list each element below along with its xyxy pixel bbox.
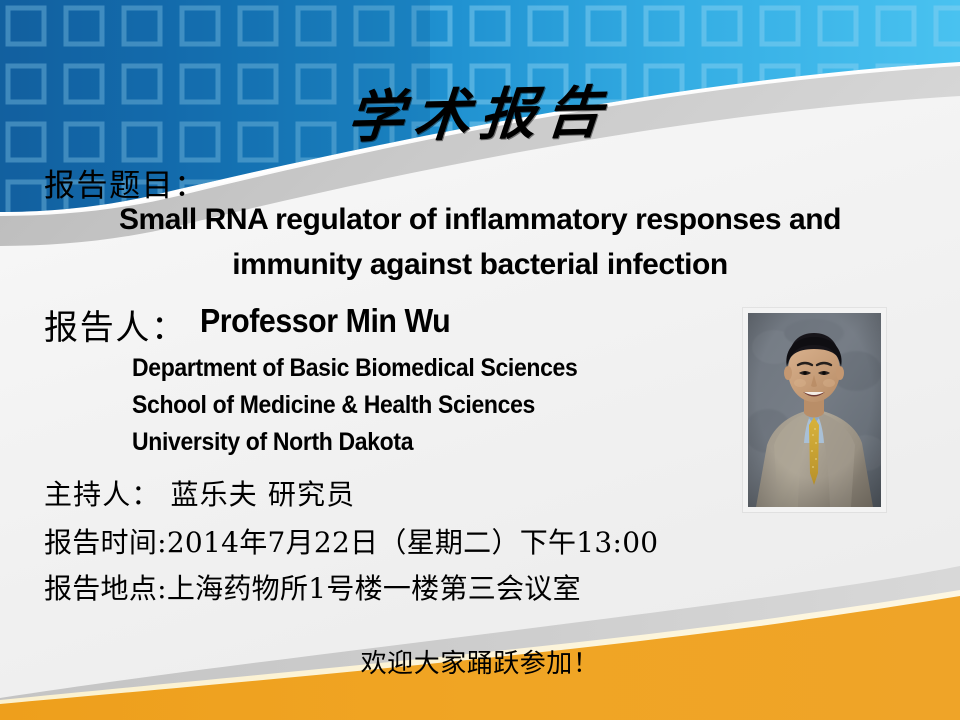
- topic-title-line-1-text: Small RNA regulator of inflammatory resp…: [119, 203, 841, 236]
- time-line: 报告时间:2014年7月22日（星期二）下午13:00: [44, 521, 658, 561]
- welcome-message: 欢迎大家踊跃参加！: [0, 643, 960, 680]
- speaker-affiliation-line-2: School of Medicine & Health Sciences: [132, 391, 535, 420]
- page-title: 学术报告: [0, 76, 960, 155]
- speaker-affiliation-line-1: Department of Basic Biomedical Sciences: [132, 354, 577, 383]
- presentation-slide: 学术报告 报告题目： Small RNA regulator of inflam…: [0, 0, 960, 720]
- topic-title-line-2: immunity against bacterial infection: [0, 248, 960, 282]
- topic-title-line-2-text: immunity against bacterial infection: [232, 248, 728, 281]
- speaker-label: 报告人：: [44, 300, 187, 349]
- topic-title-line-1: Small RNA regulator of inflammatory resp…: [0, 203, 960, 237]
- venue-line: 报告地点:上海药物所1号楼一楼第三会议室: [44, 567, 581, 607]
- speaker-name: Professor Min Wu: [200, 302, 450, 340]
- topic-label: 报告题目：: [44, 160, 207, 205]
- host-line: 主持人： 蓝乐夫 研究员: [44, 473, 355, 513]
- speaker-affiliation-line-3: University of North Dakota: [132, 428, 413, 457]
- speaker-portrait-image: [748, 313, 881, 507]
- speaker-photo: [743, 308, 886, 512]
